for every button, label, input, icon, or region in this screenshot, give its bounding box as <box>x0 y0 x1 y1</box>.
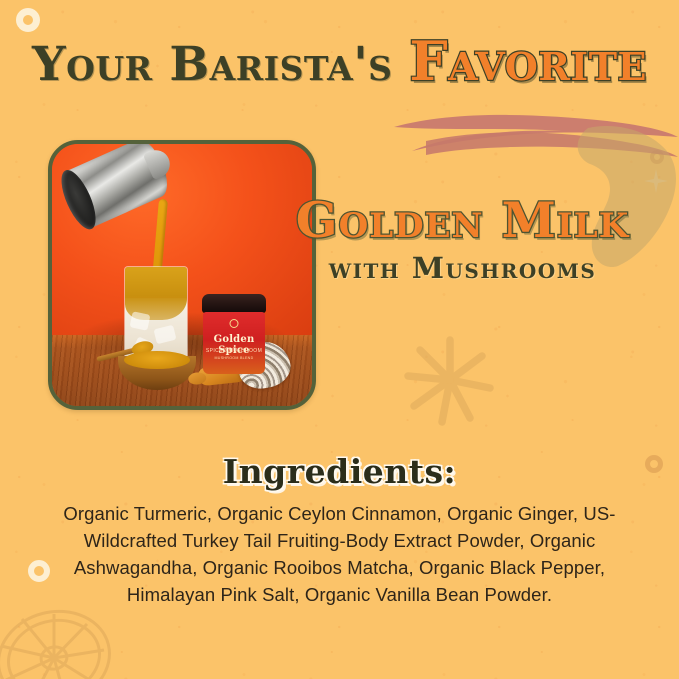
jar-label-secondary: MUSHROOM BLEND <box>203 356 265 360</box>
jar-lid <box>202 294 266 313</box>
poster-canvas: Your Barista's Favorite <box>0 0 679 679</box>
ice-cube <box>130 311 151 330</box>
page-title: Your Barista's Favorite <box>0 34 679 88</box>
product-jar: Golden Spice SPICED MUSHROOM MUSHROOM BL… <box>202 294 266 374</box>
jar-label-subtitle: SPICED MUSHROOM <box>203 348 265 354</box>
sparkle-cross-icon <box>643 168 669 194</box>
headline-part-one: Your Barista's <box>32 37 392 92</box>
headline-part-two: Favorite <box>409 29 647 93</box>
asterisk-starburst-decoration <box>400 330 500 430</box>
product-title-block: Golden Milk with Mushrooms <box>250 196 675 285</box>
ingredients-text: Organic Turmeric, Organic Ceylon Cinnamo… <box>40 500 639 608</box>
turmeric-powder <box>124 351 190 369</box>
brush-stroke-decoration <box>392 101 679 163</box>
ring-decoration-top-left <box>16 8 40 32</box>
product-title: Golden Milk <box>250 196 675 245</box>
orange-slice-decoration <box>0 600 117 679</box>
ring-decoration-upper-right <box>650 150 664 164</box>
jar-label: Golden Spice SPICED MUSHROOM MUSHROOM BL… <box>203 312 265 374</box>
ingredients-heading: Ingredients: <box>0 452 679 491</box>
product-subtitle: with Mushrooms <box>250 251 675 285</box>
brand-logo-icon <box>230 319 239 328</box>
